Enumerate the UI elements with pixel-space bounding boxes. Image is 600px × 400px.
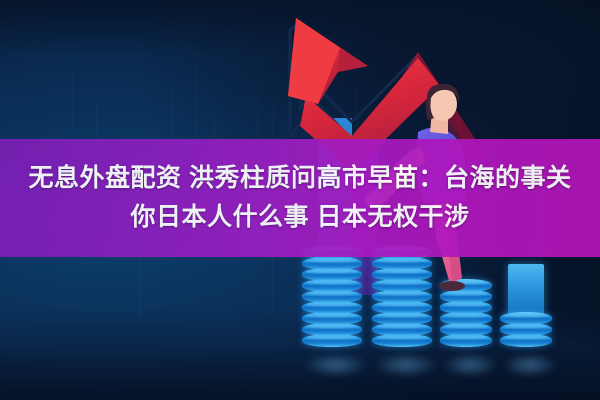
headline-band: 无息外盘配资 洪秀柱质问高市早苗：台海的事关 你日本人什么事 日本无权干涉: [0, 139, 600, 257]
thumbnail-image: 无息外盘配资 洪秀柱质问高市早苗：台海的事关 你日本人什么事 日本无权干涉: [0, 0, 600, 400]
headline-line-2: 你日本人什么事 日本无权干涉: [20, 198, 580, 237]
person-shoe: [439, 281, 465, 291]
headline-line-1: 无息外盘配资 洪秀柱质问高市早苗：台海的事关: [20, 159, 580, 198]
